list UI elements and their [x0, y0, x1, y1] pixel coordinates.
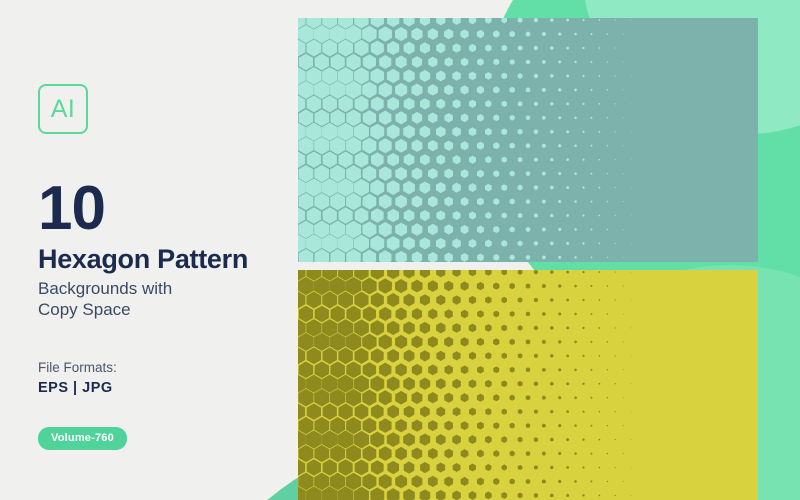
page-subtitle-line2: Copy Space — [38, 299, 288, 320]
adobe-illustrator-badge-label: AI — [51, 97, 76, 122]
page-subtitle-line1: Backgrounds with — [38, 278, 288, 299]
item-count: 10 — [38, 180, 288, 239]
poster-canvas: AI 10 Hexagon Pattern Backgrounds with C… — [0, 0, 800, 500]
file-formats-label: File Formats: — [38, 360, 288, 375]
page-title: Hexagon Pattern — [38, 245, 288, 273]
yellow-hexagon-panel — [298, 270, 758, 500]
file-formats-value: EPS | JPG — [38, 380, 288, 396]
info-column: AI 10 Hexagon Pattern Backgrounds with C… — [38, 84, 288, 450]
page-subtitle: Backgrounds with Copy Space — [38, 278, 288, 321]
yellow-hexagon-pattern — [298, 270, 758, 500]
teal-hexagon-pattern — [298, 18, 758, 262]
volume-badge: Volume-760 — [38, 427, 127, 450]
adobe-illustrator-badge: AI — [38, 84, 88, 134]
teal-hexagon-panel — [298, 18, 758, 262]
